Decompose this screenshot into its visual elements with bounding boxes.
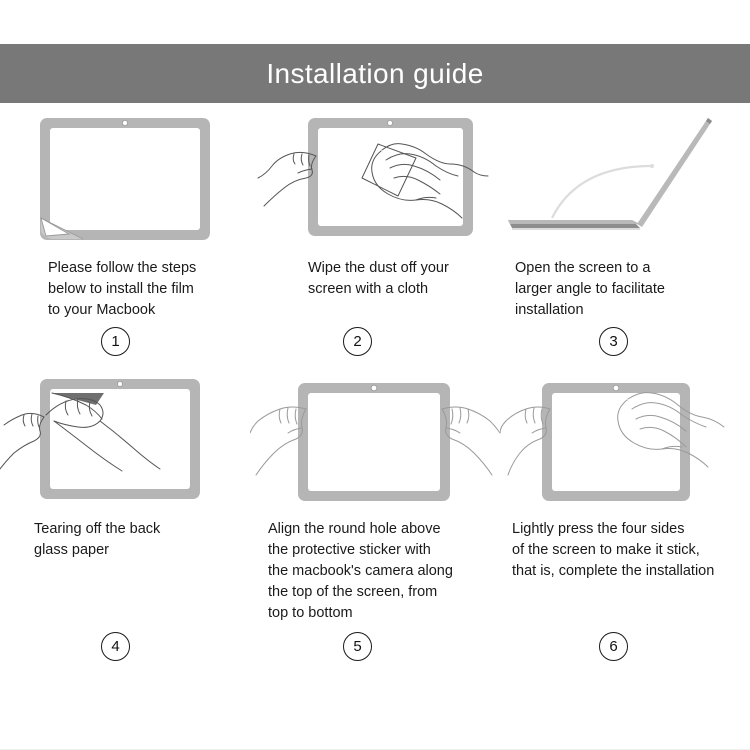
step-2-illustration xyxy=(250,110,500,250)
step-card-6: Lightly press the four sides of the scre… xyxy=(500,371,750,624)
step-number-3: 3 xyxy=(599,327,628,356)
header-bar: Installation guide xyxy=(0,44,750,103)
hand-tearing-back-paper-icon xyxy=(0,371,250,511)
laptop-open-angle-icon xyxy=(500,110,750,250)
step-3-illustration xyxy=(500,110,750,250)
step-numbers-row-top: 1 2 3 xyxy=(0,321,750,365)
step-card-2: Wipe the dust off your screen with a clo… xyxy=(250,110,500,321)
step-card-4: Tearing off the back glass paper xyxy=(0,371,250,624)
step-card-3: Open the screen to a larger angle to fac… xyxy=(500,110,750,321)
step-card-1: Please follow the steps below to install… xyxy=(0,110,250,321)
steps-row-bottom: Tearing off the back glass paper xyxy=(0,371,750,624)
step-number-6: 6 xyxy=(599,632,628,661)
step-6-caption: Lightly press the four sides of the scre… xyxy=(512,519,750,582)
step-6-illustration xyxy=(500,371,750,511)
step-1-illustration xyxy=(0,110,250,250)
page-title: Installation guide xyxy=(266,58,483,90)
steps-grid: Please follow the steps below to install… xyxy=(0,110,750,668)
step-5-illustration xyxy=(250,371,500,511)
step-5-caption: Align the round hole above the protectiv… xyxy=(268,519,500,624)
hand-pressing-screen-edges-icon xyxy=(500,371,750,511)
steps-row-top: Please follow the steps below to install… xyxy=(0,110,750,321)
step-2-caption: Wipe the dust off your screen with a clo… xyxy=(308,258,500,300)
step-4-illustration xyxy=(0,371,250,511)
tablet-with-peeling-film-icon xyxy=(25,110,225,250)
installation-guide-page: Installation guide Please xyxy=(0,0,750,750)
step-number-2: 2 xyxy=(343,327,372,356)
two-hands-aligning-film-icon xyxy=(250,371,500,511)
step-1-caption: Please follow the steps below to install… xyxy=(48,258,250,321)
step-4-caption: Tearing off the back glass paper xyxy=(34,519,250,561)
step-numbers-row-bottom: 4 5 6 xyxy=(0,624,750,668)
step-3-caption: Open the screen to a larger angle to fac… xyxy=(515,258,750,321)
step-number-4: 4 xyxy=(101,632,130,661)
step-number-1: 1 xyxy=(101,327,130,356)
step-number-5: 5 xyxy=(343,632,372,661)
step-card-5: Align the round hole above the protectiv… xyxy=(250,371,500,624)
hand-wiping-screen-with-cloth-icon xyxy=(250,110,500,250)
